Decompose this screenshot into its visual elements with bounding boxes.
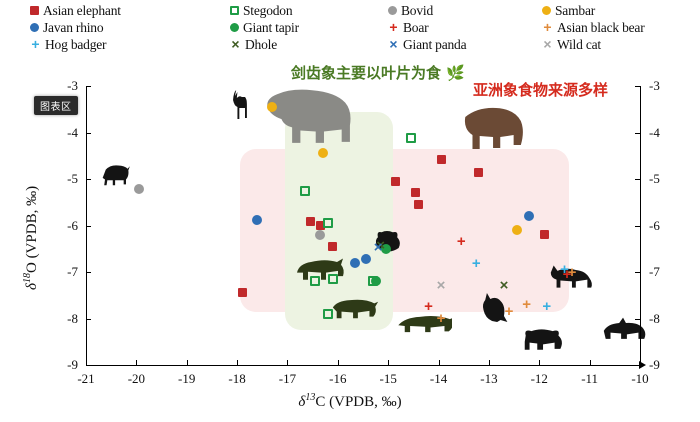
data-point-asian-elephant[interactable] (306, 217, 315, 226)
x-tick (187, 360, 188, 365)
legend-label: Javan rhino (43, 21, 103, 34)
y-axis-title: δ18O (VPDB, ‰) (22, 186, 41, 290)
x-tick (136, 360, 137, 365)
x-tick-label: -12 (519, 371, 559, 387)
cross-icon: × (542, 39, 553, 50)
legend-item-hog-badger[interactable]: +Hog badger (30, 36, 106, 52)
data-point-bovid[interactable] (315, 230, 325, 240)
x-tick-label: -21 (66, 371, 106, 387)
cross-icon: × (388, 39, 399, 50)
legend-item-giant-panda[interactable]: ×Giant panda (388, 36, 466, 52)
filled-square-icon (30, 6, 39, 15)
legend-label: Asian black bear (557, 21, 645, 34)
asian-elephant-photo (455, 105, 527, 153)
y-tick-left (86, 86, 91, 87)
x-tick (590, 360, 591, 365)
x-tick-label: -16 (318, 371, 358, 387)
x-tick (539, 360, 540, 365)
chart-area-tooltip: 图表区 (34, 96, 78, 115)
data-point-dhole[interactable]: × (498, 280, 511, 291)
tapir-silhouette (329, 296, 381, 324)
y-axis-right-line (640, 86, 641, 365)
data-point-asian-black-bear[interactable]: + (435, 313, 448, 324)
y-tick-label: -3 (52, 78, 78, 94)
data-point-asian-black-bear[interactable]: + (503, 306, 516, 317)
x-tick-label: -20 (116, 371, 156, 387)
y-tick-label: -6 (52, 218, 78, 234)
data-point-asian-elephant[interactable] (411, 188, 420, 197)
y-tick-label-right: -4 (649, 125, 675, 141)
x-tick-label: -11 (570, 371, 610, 387)
plus-icon: + (388, 22, 399, 33)
filled-circle-icon (30, 23, 39, 32)
y-tick-right (635, 133, 640, 134)
data-point-stegodon[interactable] (310, 276, 320, 286)
legend-label: Asian elephant (43, 4, 121, 17)
stegodon-browsing-note: 剑齿象主要以叶片为食 🌿 (291, 62, 465, 83)
y-tick-right (635, 179, 640, 180)
data-point-stegodon[interactable] (406, 133, 416, 143)
data-point-hog-badger[interactable]: + (470, 258, 483, 269)
x-axis-title: δ13C (VPDB, ‰) (0, 392, 700, 411)
data-point-asian-black-bear[interactable]: + (520, 299, 533, 310)
x-tick-label: -18 (217, 371, 257, 387)
x-tick (86, 360, 87, 365)
data-point-boar[interactable]: + (422, 301, 435, 312)
y-tick-right (635, 319, 640, 320)
filled-circle-icon (230, 23, 239, 32)
hog-badger-silhouette (598, 315, 650, 345)
legend-label: Dhole (245, 38, 277, 51)
legend-item-bovid[interactable]: Bovid (388, 2, 433, 18)
filled-circle-icon (542, 6, 551, 15)
data-point-boar[interactable]: + (455, 236, 468, 247)
y-tick-label-right: -3 (649, 78, 675, 94)
data-point-stegodon[interactable] (323, 218, 333, 228)
data-point-giant-tapir[interactable] (371, 276, 381, 286)
legend-item-giant-tapir[interactable]: Giant tapir (230, 19, 299, 35)
cross-icon: × (230, 39, 241, 50)
x-tick (287, 360, 288, 365)
legend-item-asian-elephant[interactable]: Asian elephant (30, 2, 121, 18)
legend-item-wild-cat[interactable]: ×Wild cat (542, 36, 601, 52)
x-axis-line (86, 365, 640, 366)
y-tick-right (635, 272, 640, 273)
y-tick-right (635, 226, 640, 227)
y-tick-right (635, 86, 640, 87)
data-point-asian-elephant[interactable] (540, 230, 549, 239)
asian-elephant-diet-note: 亚洲象食物来源多样 (473, 79, 608, 100)
legend-label: Stegodon (243, 4, 292, 17)
legend-item-stegodon[interactable]: Stegodon (230, 2, 292, 18)
data-point-wild-cat[interactable]: × (435, 280, 448, 291)
data-point-asian-elephant[interactable] (474, 168, 483, 177)
data-point-asian-elephant[interactable] (238, 288, 247, 297)
sambar-deer-silhouette (228, 88, 262, 122)
y-tick-label-right: -6 (649, 218, 675, 234)
x-tick-label: -13 (469, 371, 509, 387)
y-tick-left (86, 133, 91, 134)
y-tick-label-right: -8 (649, 311, 675, 327)
legend-label: Giant tapir (243, 21, 299, 34)
x-tick-label: -17 (267, 371, 307, 387)
y-tick-label: -4 (52, 125, 78, 141)
x-tick (489, 360, 490, 365)
legend-label: Hog badger (45, 38, 106, 51)
y-tick-label: -5 (52, 171, 78, 187)
data-point-giant-panda[interactable]: × (372, 242, 385, 253)
data-point-stegodon[interactable] (328, 274, 338, 284)
stegodon-silhouette (265, 84, 357, 146)
legend-item-dhole[interactable]: ×Dhole (230, 36, 277, 52)
legend-label: Giant panda (403, 38, 466, 51)
legend-label: Wild cat (557, 38, 601, 51)
x-tick (338, 360, 339, 365)
filled-circle-icon (388, 6, 397, 15)
y-tick-left (86, 365, 91, 366)
x-tick-label: -10 (620, 371, 660, 387)
x-tick (388, 360, 389, 365)
data-point-asian-elephant[interactable] (328, 242, 337, 251)
legend-label: Sambar (555, 4, 595, 17)
y-tick-left (86, 272, 91, 273)
plus-icon: + (542, 22, 553, 33)
legend-item-sambar[interactable]: Sambar (542, 2, 595, 18)
legend-label: Bovid (401, 4, 433, 17)
plot-area: ++++++++++×××× -3-3-4-4-5-5-6-6-7-7-8-8-… (86, 86, 640, 365)
data-point-javan-rhino[interactable] (361, 254, 371, 264)
y-tick-label-right: -7 (649, 264, 675, 280)
legend: Asian elephantStegodonBovidSambarJavan r… (30, 2, 690, 54)
black-bear-silhouette (518, 325, 570, 355)
data-point-stegodon[interactable] (323, 309, 333, 319)
data-point-asian-elephant[interactable] (414, 200, 423, 209)
data-point-bovid[interactable] (134, 184, 144, 194)
data-point-sambar[interactable] (512, 225, 522, 235)
data-point-hog-badger[interactable]: + (558, 264, 571, 275)
data-point-hog-badger[interactable]: + (540, 301, 553, 312)
plus-icon: + (30, 39, 41, 50)
legend-item-javan-rhino[interactable]: Javan rhino (30, 19, 103, 35)
x-tick-label: -14 (419, 371, 459, 387)
y-tick-label: -8 (52, 311, 78, 327)
x-tick (439, 360, 440, 365)
x-tick-label: -15 (368, 371, 408, 387)
legend-label: Boar (403, 21, 428, 34)
x-tick-label: -19 (167, 371, 207, 387)
y-tick-left (86, 179, 91, 180)
data-point-asian-elephant[interactable] (391, 177, 400, 186)
y-tick-label: -7 (52, 264, 78, 280)
x-tick (237, 360, 238, 365)
y-tick-left (86, 226, 91, 227)
y-tick-label-right: -5 (649, 171, 675, 187)
x-axis-arrow (639, 361, 646, 369)
data-point-stegodon[interactable] (300, 186, 310, 196)
legend-item-boar[interactable]: +Boar (388, 19, 428, 35)
hollow-square-icon (230, 6, 239, 15)
legend-item-asian-black-bear[interactable]: +Asian black bear (542, 19, 645, 35)
data-point-asian-elephant[interactable] (437, 155, 446, 164)
y-tick-left (86, 319, 91, 320)
